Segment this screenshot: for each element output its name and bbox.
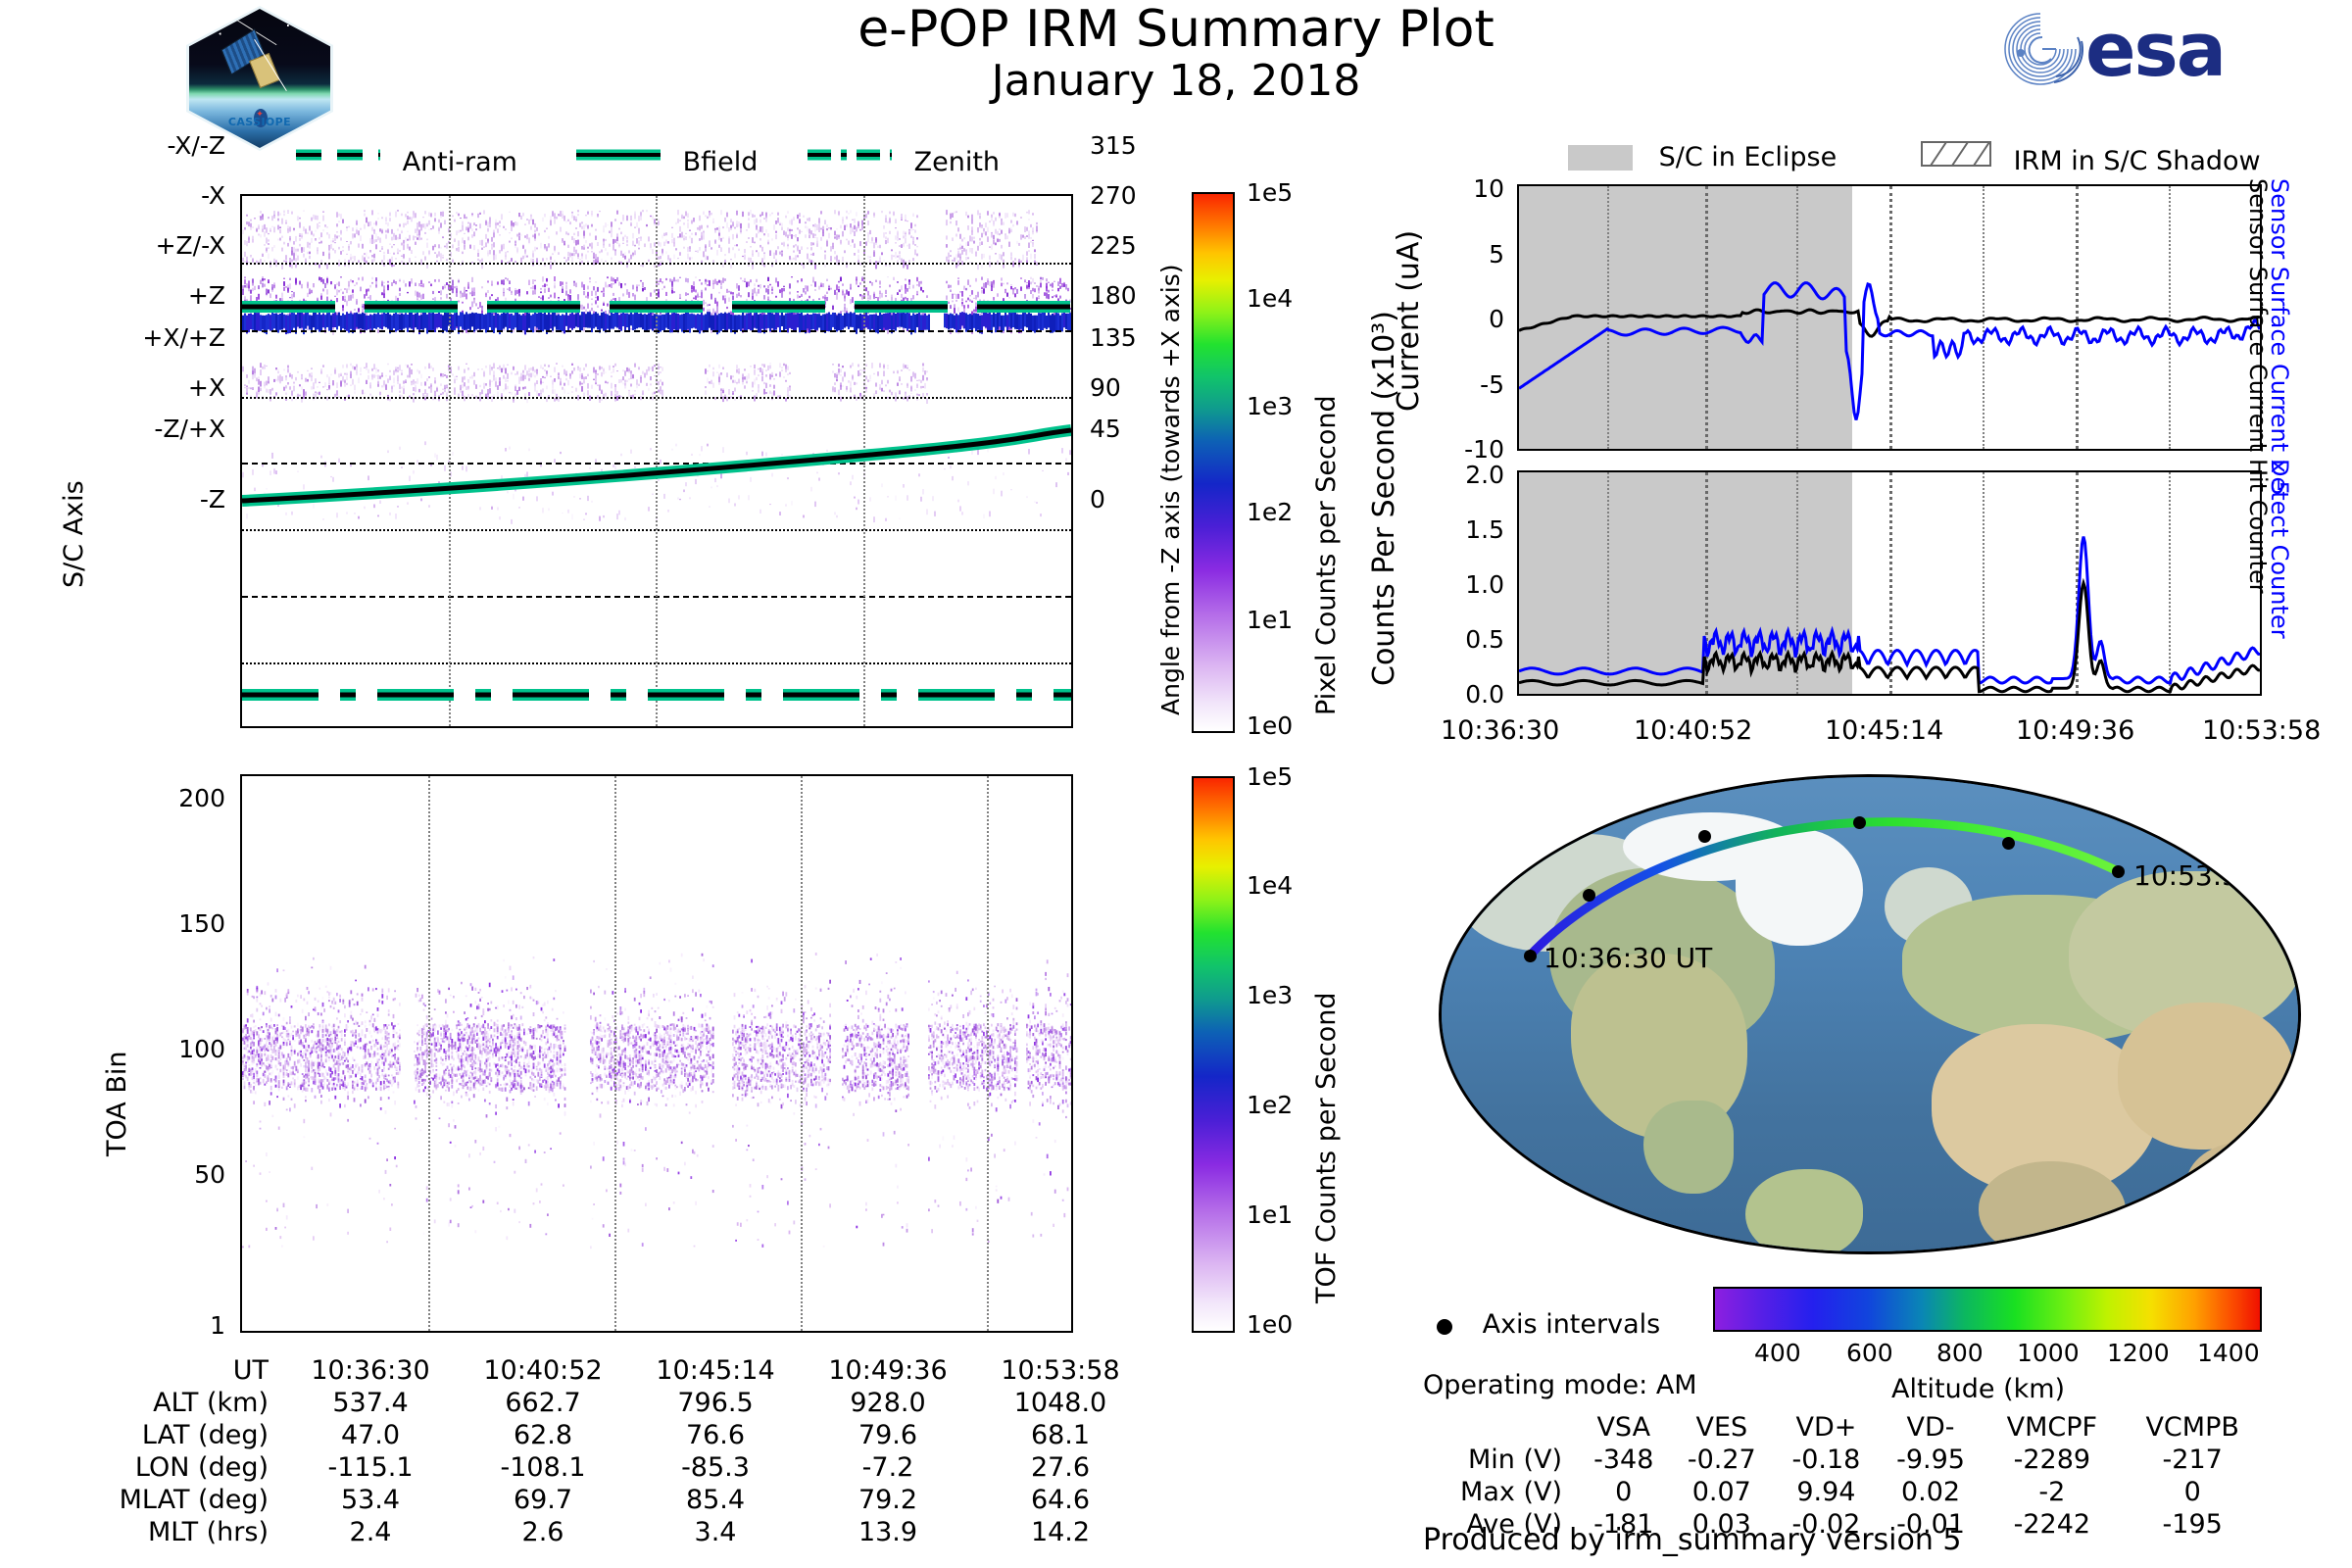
ephemeris-cell: -115.1: [284, 1451, 457, 1484]
voltage-cell: 0: [2121, 1476, 2264, 1508]
ephemeris-cell: 10:45:14: [629, 1354, 802, 1387]
zenith-line-swatch: [806, 139, 894, 170]
ephemeris-cell: 85.4: [629, 1484, 802, 1516]
alt-tick-600: 600: [1846, 1339, 1893, 1367]
overlay-traces: [242, 196, 1071, 726]
current-ytick-m10: -10: [1384, 435, 1504, 464]
legend-zenith: Zenith: [806, 147, 1000, 177]
toa-time-gridline-1: [428, 776, 430, 1331]
esa-wordmark: esa: [2085, 6, 2225, 93]
esa-logo: esa: [1999, 8, 2264, 91]
altitude-colorbar-label: Altitude (km): [1891, 1374, 2065, 1404]
voltage-column-header: VD-: [1879, 1411, 1984, 1444]
toa-time-gridline-3: [801, 776, 803, 1331]
ephemeris-cell: 47.0: [284, 1419, 457, 1451]
title-block: e-POP IRM Summary Plot January 18, 2018: [588, 2, 1764, 105]
counter-traces: [1519, 472, 2260, 694]
right-time-tick-2: 10:45:14: [1825, 715, 1943, 746]
ephemeris-cell: 76.6: [629, 1419, 802, 1451]
voltage-column-header: VMCPF: [1983, 1411, 2121, 1444]
angle-ytick-1: 270: [1090, 181, 1137, 210]
voltage-column-header: VD+: [1774, 1411, 1879, 1444]
table-row: MLAT (deg)53.469.785.479.264.6: [78, 1484, 1147, 1516]
ephemeris-cell: -7.2: [802, 1451, 974, 1484]
counters-plot: [1517, 470, 2262, 696]
voltage-cell: -2289: [1983, 1444, 2121, 1476]
ephemeris-cell: 2.6: [457, 1516, 629, 1548]
ephemeris-cell: 27.6: [974, 1451, 1147, 1484]
voltage-cell: -9.95: [1879, 1444, 1984, 1476]
eclipse-swatch: [1568, 145, 1633, 171]
axis-intervals-legend: Axis intervals: [1437, 1309, 1660, 1340]
patch-hex-border: [186, 6, 333, 151]
patch-label: CASSIOPE: [186, 116, 333, 128]
ephemeris-cell: 14.2: [974, 1516, 1147, 1548]
voltage-cell: -2242: [1983, 1508, 2121, 1541]
alt-tick-1200: 1200: [2107, 1339, 2170, 1367]
pixel-counts-colorbar-title: Pixel Counts per Second: [1311, 395, 1342, 715]
voltage-table: VSAVESVD+VD-VMCPFVCMPBMin (V)-348-0.27-0…: [1411, 1411, 2264, 1541]
ephemeris-cell: 10:40:52: [457, 1354, 629, 1387]
toa-ytick-1: 1: [98, 1311, 225, 1340]
current-ytick-0: 0: [1392, 305, 1504, 333]
table-header-row: VSAVESVD+VD-VMCPFVCMPB: [1411, 1411, 2264, 1444]
voltage-cell: 0.07: [1670, 1476, 1775, 1508]
esa-mark-icon: [1999, 8, 2087, 91]
angle-ytick-4: 135: [1090, 323, 1137, 352]
table-row: Max (V)00.079.940.02-20: [1411, 1476, 2264, 1508]
ephemeris-cell: 1048.0: [974, 1387, 1147, 1419]
voltage-cell: 9.94: [1774, 1476, 1879, 1508]
track-point-3: [1853, 816, 1866, 829]
track-point-4: [2002, 837, 2015, 850]
legend-sc-eclipse: S/C in Eclipse: [1568, 140, 1837, 172]
alt-tick-400: 400: [1754, 1339, 1801, 1367]
alt-tick-1400: 1400: [2197, 1339, 2260, 1367]
angle-axis-title: Angle from -Z axis (towards +X axis): [1156, 265, 1185, 716]
counts-ytick-2: 2.0: [1392, 461, 1504, 489]
voltage-row-label: Min (V): [1411, 1444, 1578, 1476]
axis-interval-dot-icon: [1437, 1319, 1452, 1335]
table-row: LON (deg)-115.1-108.1-85.3-7.227.6: [78, 1451, 1147, 1484]
cb1-tick-1e1: 1e1: [1247, 606, 1293, 634]
footer-text: Produced by irm_summary version 5: [1423, 1523, 1961, 1557]
voltage-cell: 0.02: [1879, 1476, 1984, 1508]
ephemeris-row-label: ALT (km): [78, 1387, 284, 1419]
ephemeris-row-label: MLAT (deg): [78, 1484, 284, 1516]
ephemeris-cell: -108.1: [457, 1451, 629, 1484]
toa-time-gridline-4: [987, 776, 989, 1331]
ephemeris-cell: 62.8: [457, 1419, 629, 1451]
toa-ytick-100: 100: [98, 1035, 225, 1063]
altitude-colorbar: [1713, 1287, 2262, 1332]
ephemeris-cell: 79.6: [802, 1419, 974, 1451]
alt-tick-1000: 1000: [2017, 1339, 2080, 1367]
cb2-tick-1e0: 1e0: [1247, 1310, 1293, 1339]
current-traces: [1519, 186, 2260, 449]
sc-axis-spectrogram-plot: [240, 194, 1073, 728]
track-point-2: [1698, 830, 1711, 843]
ephemeris-cell: 53.4: [284, 1484, 457, 1516]
table-row: ALT (km)537.4662.7796.5928.01048.0: [78, 1387, 1147, 1419]
ephemeris-cell: 69.7: [457, 1484, 629, 1516]
cb1-tick-1e3: 1e3: [1247, 392, 1293, 420]
axis-intervals-label: Axis intervals: [1483, 1309, 1661, 1340]
table-row: MLT (hrs)2.42.63.413.914.2: [78, 1516, 1147, 1548]
ephemeris-cell: 10:36:30: [284, 1354, 457, 1387]
table-row: LAT (deg)47.062.876.679.668.1: [78, 1419, 1147, 1451]
toa-ytick-50: 50: [98, 1160, 225, 1189]
alt-tick-800: 800: [1936, 1339, 1984, 1367]
legend-label-zenith: Zenith: [914, 147, 1000, 177]
cb1-tick-1e2: 1e2: [1247, 498, 1293, 526]
ephemeris-row-label: LON (deg): [78, 1451, 284, 1484]
sensor-current-plot: [1517, 184, 2262, 451]
cb2-tick-1e2: 1e2: [1247, 1091, 1293, 1119]
ephemeris-table: UT10:36:3010:40:5210:45:1410:49:3610:53:…: [78, 1354, 1147, 1548]
sc-axis-ytick-2: +Z/-X: [88, 231, 225, 260]
voltage-cell: -348: [1578, 1444, 1670, 1476]
cb2-tick-1e4: 1e4: [1247, 871, 1293, 900]
voltage-row-label: Max (V): [1411, 1476, 1578, 1508]
legend-label-sc-eclipse: S/C in Eclipse: [1659, 142, 1837, 172]
sc-axis-ytick-5: +X: [88, 373, 225, 402]
ephemeris-cell: 79.2: [802, 1484, 974, 1516]
toa-bin-spectrogram-plot: [240, 774, 1073, 1333]
toa-ytick-150: 150: [98, 909, 225, 938]
current-right-label-black: Sensor Surface Current: [2244, 178, 2272, 452]
tof-counts-colorbar: [1192, 776, 1235, 1333]
bfield-line-swatch: [574, 139, 662, 170]
ephemeris-cell: 68.1: [974, 1419, 1147, 1451]
ephemeris-cell: 10:49:36: [802, 1354, 974, 1387]
ephemeris-cell: -85.3: [629, 1451, 802, 1484]
voltage-column-header: VSA: [1578, 1411, 1670, 1444]
current-ytick-m5: -5: [1392, 370, 1504, 399]
toa-bin-ylabel: TOA Bin: [102, 1052, 132, 1156]
pixel-counts-colorbar: [1192, 192, 1235, 733]
legend-label-anti-ram: Anti-ram: [403, 147, 517, 177]
map-start-label: 10:36:30 UT: [1543, 942, 1712, 974]
angle-ytick-0: 315: [1090, 131, 1137, 160]
right-time-tick-4: 10:53:58: [2202, 715, 2321, 746]
page-subtitle-date: January 18, 2018: [588, 57, 1764, 105]
current-ytick-10: 10: [1392, 174, 1504, 203]
sc-axis-ytick-7: -Z: [88, 485, 225, 514]
toa-time-gridline-2: [614, 776, 616, 1331]
cb1-tick-1e4: 1e4: [1247, 284, 1293, 313]
cassiope-mission-patch: CASSIOPE: [186, 6, 333, 151]
cb2-tick-1e5: 1e5: [1247, 762, 1293, 791]
right-time-tick-0: 10:36:30: [1441, 715, 1559, 746]
anti-ram-line-swatch: [294, 139, 382, 170]
table-row: UT10:36:3010:40:5210:45:1410:49:3610:53:…: [78, 1354, 1147, 1387]
cb1-tick-1e0: 1e0: [1247, 711, 1293, 740]
sc-axis-ytick-0: -X/-Z: [88, 131, 225, 160]
table-row: Min (V)-348-0.27-0.18-9.95-2289-217: [1411, 1444, 2264, 1476]
voltage-cell: -195: [2121, 1508, 2264, 1541]
ephemeris-row-label: LAT (deg): [78, 1419, 284, 1451]
map-end-label: 10:53:58 UT: [2133, 859, 2301, 892]
toa-ytick-200: 200: [98, 784, 225, 812]
ephemeris-cell: 10:53:58: [974, 1354, 1147, 1387]
counts-ytick-15: 1.5: [1392, 515, 1504, 544]
track-point-5: [2112, 865, 2125, 878]
sc-axis-ytick-4: +X/+Z: [88, 323, 225, 352]
ephemeris-cell: 928.0: [802, 1387, 974, 1419]
cb1-tick-1e5: 1e5: [1247, 178, 1293, 207]
sc-axis-ytick-1: -X: [88, 181, 225, 210]
counts-ytick-0: 0.0: [1392, 680, 1504, 709]
angle-ytick-6: 45: [1090, 415, 1121, 443]
voltage-cell: -0.27: [1670, 1444, 1775, 1476]
legend-anti-ram: Anti-ram: [294, 147, 517, 177]
angle-ytick-5: 90: [1090, 373, 1121, 402]
shadow-hatch-swatch: [1921, 132, 1991, 169]
legend-irm-shadow: IRM in S/C Shadow: [1921, 140, 2261, 176]
ephemeris-cell: 662.7: [457, 1387, 629, 1419]
ground-track: [1442, 777, 2301, 1254]
voltage-cell: -0.18: [1774, 1444, 1879, 1476]
page-title: e-POP IRM Summary Plot: [588, 2, 1764, 57]
legend-label-irm-shadow: IRM in S/C Shadow: [2014, 146, 2261, 176]
tof-counts-colorbar-title: TOF Counts per Second: [1311, 993, 1342, 1304]
sc-axis-ytick-3: +Z: [88, 281, 225, 310]
legend-bfield: Bfield: [574, 147, 758, 177]
legend-label-bfield: Bfield: [683, 147, 759, 177]
voltage-column-header: VCMPB: [2121, 1411, 2264, 1444]
counts-ytick-1: 1.0: [1392, 570, 1504, 599]
angle-ytick-3: 180: [1090, 281, 1137, 310]
voltage-corner: [1411, 1411, 1578, 1444]
operating-mode-label: Operating mode: AM: [1423, 1370, 1697, 1400]
counts-ytick-05: 0.5: [1392, 625, 1504, 654]
ground-track-map: 10:36:30 UT 10:53:58 UT: [1439, 774, 2301, 1254]
voltage-cell: 0: [1578, 1476, 1670, 1508]
counts-right-label-black: Hit Counter: [2244, 459, 2272, 594]
ephemeris-cell: 3.4: [629, 1516, 802, 1548]
track-point-1: [1583, 889, 1595, 902]
ephemeris-row-label: MLT (hrs): [78, 1516, 284, 1548]
current-ytick-5: 5: [1392, 240, 1504, 269]
ephemeris-cell: 2.4: [284, 1516, 457, 1548]
right-time-tick-3: 10:49:36: [2016, 715, 2134, 746]
toa-noise-scatter: [242, 953, 1071, 1249]
angle-ytick-7: 0: [1090, 485, 1105, 514]
cb2-tick-1e3: 1e3: [1247, 981, 1293, 1009]
ephemeris-cell: 13.9: [802, 1516, 974, 1548]
ephemeris-cell: 796.5: [629, 1387, 802, 1419]
sc-axis-ytick-6: -Z/+X: [88, 415, 225, 443]
ephemeris-cell: 537.4: [284, 1387, 457, 1419]
voltage-column-header: VES: [1670, 1411, 1775, 1444]
voltage-cell: -2: [1983, 1476, 2121, 1508]
voltage-cell: -217: [2121, 1444, 2264, 1476]
sc-axis-ylabel: S/C Axis: [59, 480, 89, 588]
right-time-tick-1: 10:40:52: [1634, 715, 1752, 746]
ephemeris-row-label: UT: [78, 1354, 284, 1387]
angle-ytick-2: 225: [1090, 231, 1137, 260]
track-point-0: [1524, 950, 1537, 962]
cb2-tick-1e1: 1e1: [1247, 1200, 1293, 1229]
ephemeris-cell: 64.6: [974, 1484, 1147, 1516]
